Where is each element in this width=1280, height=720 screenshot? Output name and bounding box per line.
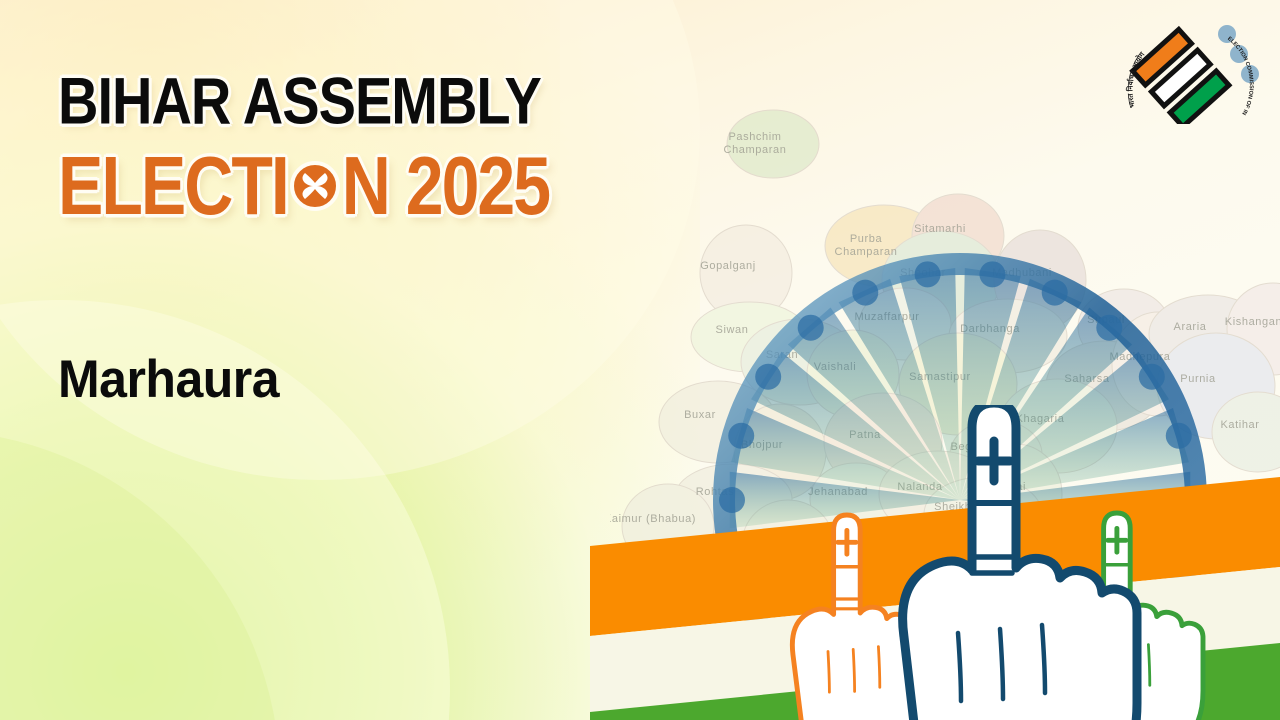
bihar-district-map: PashchimChamparanPurbaChamparanGopalganj… [610,70,1280,630]
district-label: Siwan [716,324,749,336]
district-label: Darbhanga [960,323,1020,335]
district-label: Katihar [1220,419,1259,431]
district-label: Sheohar [900,267,946,279]
district-label: Khagaria [1016,413,1065,425]
district-label: Nalanda [897,481,942,493]
district-label: Jehanabad [808,486,868,498]
district-label: Saran [766,349,798,361]
election-commission-of-india-logo: भारत निर्वाचन आयोग ELECTION COMMISSION O… [1122,14,1262,124]
district-label: Lakhisarai [970,481,1026,493]
district-label: Madhubani [992,267,1052,279]
district-label: Buxar [684,409,716,421]
district-label: Bhojpur [741,439,783,451]
district-label: Sitamarhi [914,223,966,235]
district-label: Sheikhpura [934,501,996,513]
district-label: Patna [849,429,881,441]
district-label: Vaishali [814,361,857,373]
page-title: BIHAR ASSEMBLY [58,68,708,134]
district-label: Kishanganj [1225,316,1280,328]
ballot-x-icon [289,160,341,212]
district-label: Purnia [1180,373,1216,385]
district-label: Supaul [1087,314,1125,326]
district-label: Muzaffarpur [854,311,919,323]
headline-block: BIHAR ASSEMBLY ELECTI N 2025 [58,68,708,220]
district-label: Saharsa [1064,373,1109,385]
district-label: Kaimur (Bhabua) [610,513,696,525]
district-label: Gopalganj [700,260,756,272]
district-label: Araria [1174,321,1207,333]
subtitle-row: ELECTI N 2025 [58,152,708,220]
district-label: Rohtas [696,486,734,498]
district-label: Samastipur [909,371,971,383]
election-banner: PashchimChamparanPurbaChamparanGopalganj… [0,0,1280,720]
district-label: Madhepura [1109,351,1170,363]
subtitle-part-2: N 2025 [342,145,549,228]
district-label: Aurangabad [737,531,803,543]
subtitle-part-1: ELECTI [58,145,288,228]
constituency-name: Marhaura [58,348,279,409]
district-label: PashchimChamparan [724,131,787,156]
district-label: Begusarai [951,441,1006,453]
district-shape [742,500,834,588]
